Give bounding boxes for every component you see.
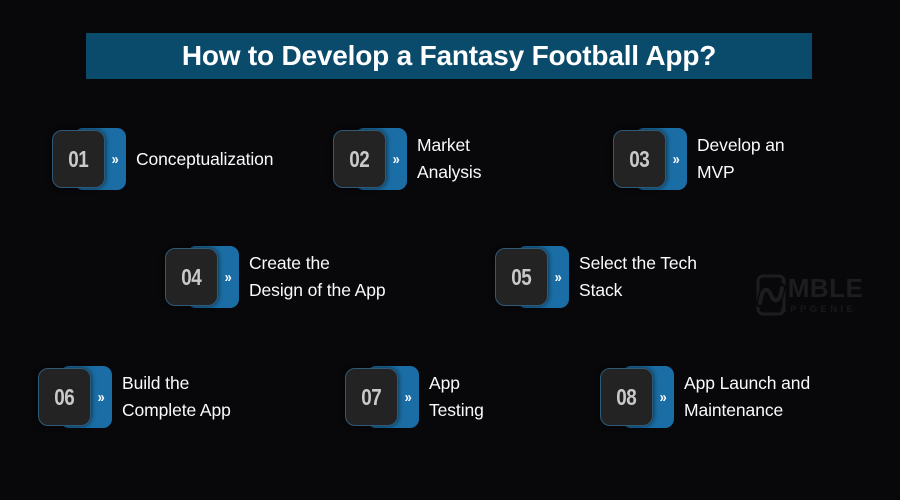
step-number-01: 01 bbox=[68, 148, 88, 171]
step-number-02: 02 bbox=[349, 148, 369, 171]
badge-face-02: 02 bbox=[333, 130, 386, 188]
badge-face-07: 07 bbox=[345, 368, 398, 426]
step-badge-05: » 05 bbox=[495, 246, 569, 308]
chevron-right-icon: » bbox=[97, 390, 104, 405]
step-item-07[interactable]: » 07 App Testing bbox=[345, 366, 484, 428]
step-number-05: 05 bbox=[511, 266, 531, 289]
watermark-primary-text: IMBLE bbox=[780, 275, 863, 301]
step-label-01: Conceptualization bbox=[136, 146, 273, 173]
chevron-right-icon: » bbox=[672, 152, 679, 167]
step-badge-06: » 06 bbox=[38, 366, 112, 428]
page-title: How to Develop a Fantasy Football App? bbox=[182, 42, 716, 70]
badge-face-05: 05 bbox=[495, 248, 548, 306]
step-badge-03: » 03 bbox=[613, 128, 687, 190]
step-item-05[interactable]: » 05 Select the Tech Stack bbox=[495, 246, 697, 308]
step-item-03[interactable]: » 03 Develop an MVP bbox=[613, 128, 785, 190]
step-item-02[interactable]: » 02 Market Analysis bbox=[333, 128, 481, 190]
step-badge-08: » 08 bbox=[600, 366, 674, 428]
chevron-right-icon: » bbox=[554, 270, 561, 285]
step-badge-02: » 02 bbox=[333, 128, 407, 190]
chevron-right-icon: » bbox=[404, 390, 411, 405]
chevron-right-icon: » bbox=[392, 152, 399, 167]
step-label-04: Create the Design of the App bbox=[249, 250, 385, 303]
step-number-06: 06 bbox=[54, 386, 74, 409]
step-number-04: 04 bbox=[181, 266, 201, 289]
step-item-08[interactable]: » 08 App Launch and Maintenance bbox=[600, 366, 810, 428]
step-label-05: Select the Tech Stack bbox=[579, 250, 697, 303]
step-label-03: Develop an MVP bbox=[697, 132, 785, 185]
chevron-right-icon: » bbox=[659, 390, 666, 405]
chevron-right-icon: » bbox=[111, 152, 118, 167]
step-number-08: 08 bbox=[616, 386, 636, 409]
step-item-04[interactable]: » 04 Create the Design of the App bbox=[165, 246, 385, 308]
watermark-logo: IMBLE APPGENIE bbox=[756, 274, 863, 316]
nimble-appgenie-logo-icon bbox=[756, 274, 786, 316]
badge-face-03: 03 bbox=[613, 130, 666, 188]
chevron-right-icon: » bbox=[224, 270, 231, 285]
step-badge-07: » 07 bbox=[345, 366, 419, 428]
badge-face-04: 04 bbox=[165, 248, 218, 306]
step-number-07: 07 bbox=[361, 386, 381, 409]
badge-face-08: 08 bbox=[600, 368, 653, 426]
badge-face-06: 06 bbox=[38, 368, 91, 426]
infographic-canvas: How to Develop a Fantasy Football App? »… bbox=[0, 0, 900, 500]
step-label-06: Build the Complete App bbox=[122, 370, 231, 423]
step-item-06[interactable]: » 06 Build the Complete App bbox=[38, 366, 231, 428]
title-banner: How to Develop a Fantasy Football App? bbox=[86, 33, 812, 79]
watermark-wordmark: IMBLE APPGENIE bbox=[780, 275, 863, 315]
step-badge-01: » 01 bbox=[52, 128, 126, 190]
step-label-07: App Testing bbox=[429, 370, 484, 423]
badge-face-01: 01 bbox=[52, 130, 105, 188]
step-label-08: App Launch and Maintenance bbox=[684, 370, 810, 423]
step-item-01[interactable]: » 01 Conceptualization bbox=[52, 128, 273, 190]
step-label-02: Market Analysis bbox=[417, 132, 481, 185]
step-number-03: 03 bbox=[629, 148, 649, 171]
watermark-secondary-text: APPGENIE bbox=[780, 305, 863, 315]
step-badge-04: » 04 bbox=[165, 246, 239, 308]
